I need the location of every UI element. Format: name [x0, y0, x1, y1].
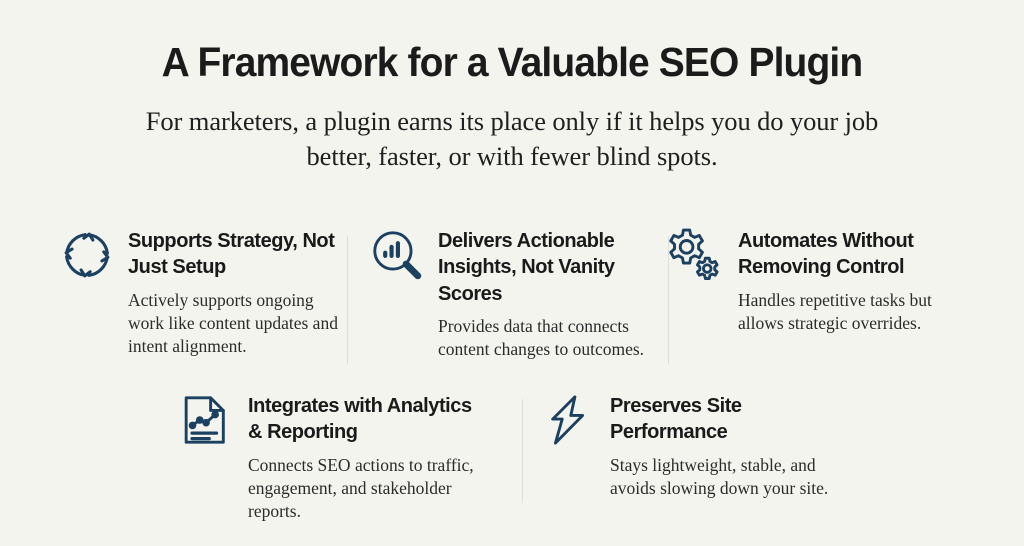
page-subtitle: For marketers, a plugin earns its place …: [127, 104, 897, 174]
feature-heading: Integrates with Analytics & Reporting: [248, 393, 488, 446]
feature-card-actionable-insights: Delivers Actionable Insights, Not Vanity…: [348, 226, 648, 362]
feature-description: Provides data that connects content chan…: [438, 315, 648, 362]
feature-description: Handles repetitive tasks but allows stra…: [738, 289, 948, 336]
feature-description: Connects SEO actions to traffic, engagem…: [248, 454, 493, 524]
feature-heading: Supports Strategy, Not Just Setup: [128, 228, 343, 281]
feature-card-body: Preserves Site Performance Stays lightwe…: [610, 391, 838, 500]
feature-row-top: Supports Strategy, Not Just Setup Active…: [58, 226, 968, 362]
feature-heading: Delivers Actionable Insights, Not Vanity…: [438, 228, 648, 307]
feature-card-automates: Automates Without Removing Control Handl…: [648, 226, 948, 362]
header: A Framework for a Valuable SEO Plugin Fo…: [0, 0, 1024, 174]
page-title: A Framework for a Valuable SEO Plugin: [26, 40, 999, 86]
lightning-bolt-icon: [540, 391, 598, 449]
gears-icon: [668, 226, 726, 284]
feature-card-preserves-performance: Preserves Site Performance Stays lightwe…: [508, 391, 838, 524]
feature-description: Actively supports ongoing work like cont…: [128, 289, 343, 359]
feature-heading: Automates Without Removing Control: [738, 228, 948, 281]
feature-row-bottom: Integrates with Analytics & Reporting Co…: [178, 391, 878, 524]
cycle-arrows-icon: [58, 226, 116, 284]
feature-card-body: Integrates with Analytics & Reporting Co…: [248, 391, 493, 524]
feature-card-supports-strategy: Supports Strategy, Not Just Setup Active…: [58, 226, 348, 362]
feature-card-body: Delivers Actionable Insights, Not Vanity…: [438, 226, 648, 362]
feature-card-integrates-analytics: Integrates with Analytics & Reporting Co…: [178, 391, 508, 524]
infographic-canvas: A Framework for a Valuable SEO Plugin Fo…: [0, 0, 1024, 546]
feature-heading: Preserves Site Performance: [610, 393, 825, 446]
feature-card-body: Supports Strategy, Not Just Setup Active…: [128, 226, 343, 359]
document-line-chart-icon: [178, 391, 236, 449]
feature-description: Stays lightweight, stable, and avoids sl…: [610, 454, 838, 501]
magnifier-bar-chart-icon: [368, 226, 426, 284]
feature-card-body: Automates Without Removing Control Handl…: [738, 226, 948, 335]
